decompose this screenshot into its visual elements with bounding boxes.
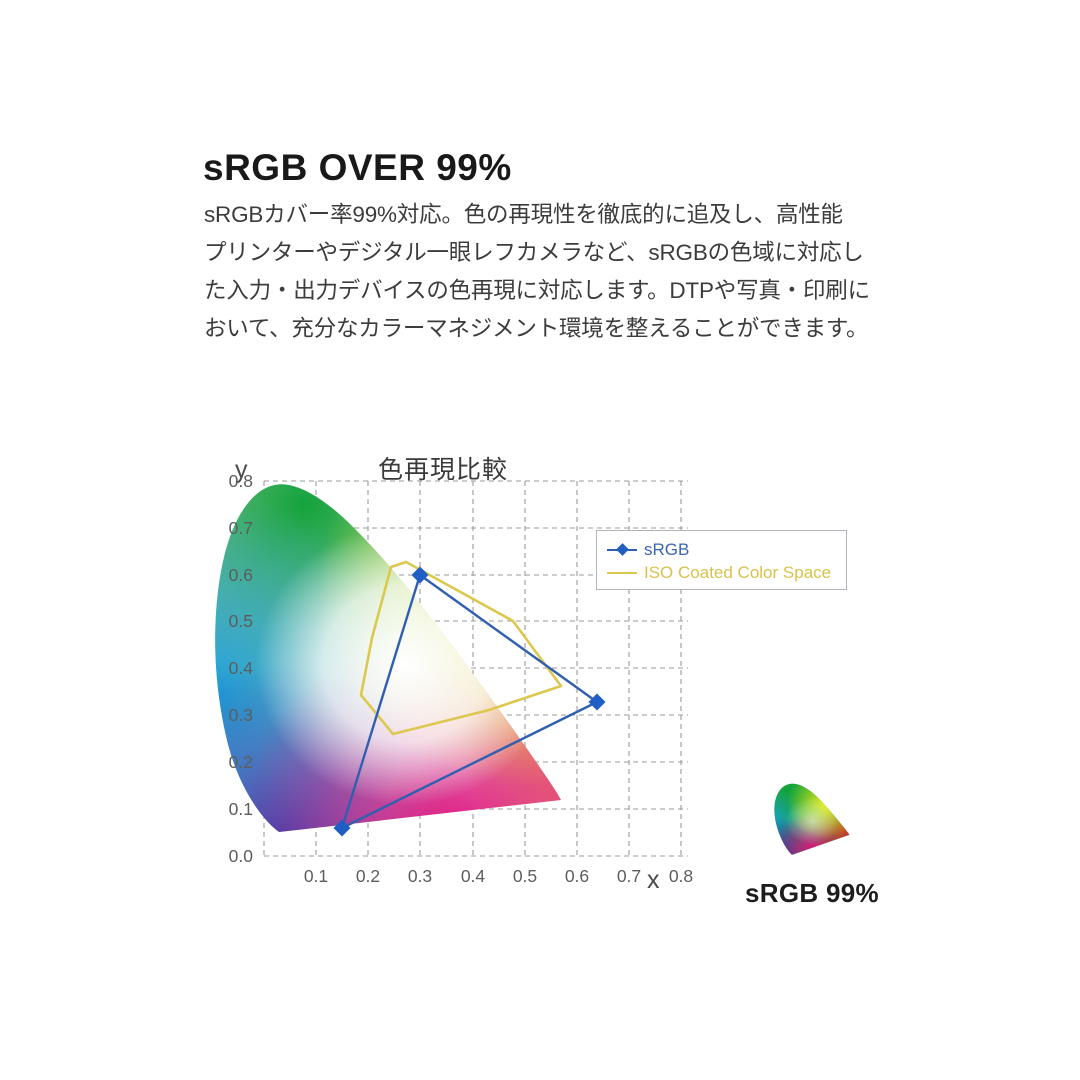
svg-text:0.3: 0.3 xyxy=(408,866,432,886)
legend-label: ISO Coated Color Space xyxy=(644,563,831,583)
svg-text:0.1: 0.1 xyxy=(304,866,328,886)
svg-text:0.7: 0.7 xyxy=(617,866,641,886)
svg-text:0.4: 0.4 xyxy=(461,866,486,886)
chart-legend: sRGB ISO Coated Color Space xyxy=(596,530,847,590)
body-line: た入力・出力デバイスの色再現に対応します。DTPや写真・印刷に xyxy=(204,272,894,310)
legend-item-srgb: sRGB xyxy=(607,538,846,561)
svg-text:0.1: 0.1 xyxy=(229,799,253,819)
plot-area: 0.0 0.1 0.2 0.3 0.4 0.5 0.6 0.7 0.8 0.1 … xyxy=(196,448,696,918)
page-title: sRGB OVER 99% xyxy=(203,147,512,189)
svg-text:0.4: 0.4 xyxy=(229,658,254,678)
legend-marker-line-icon xyxy=(607,566,637,580)
svg-text:0.6: 0.6 xyxy=(565,866,589,886)
svg-text:0.8: 0.8 xyxy=(229,471,253,491)
svg-text:0.3: 0.3 xyxy=(229,705,253,725)
x-tick-labels: 0.1 0.2 0.3 0.4 0.5 0.6 0.7 0.8 xyxy=(304,866,693,886)
cie-gamut-fill xyxy=(196,448,696,918)
srgb-coverage-badge: sRGB 99% xyxy=(737,778,887,909)
body-line: プリンターやデジタル一眼レフカメラなど、sRGBの色域に対応し xyxy=(204,234,894,272)
badge-label: sRGB 99% xyxy=(737,878,887,909)
y-tick-labels: 0.0 0.1 0.2 0.3 0.4 0.5 0.6 0.7 0.8 xyxy=(229,471,254,866)
body-line: おいて、充分なカラーマネジメント環境を整えることができます。 xyxy=(204,310,894,348)
chromaticity-chart: 色再現比較 y x xyxy=(196,448,696,918)
page-root: sRGB OVER 99% sRGBカバー率99%対応。色の再現性を徹底的に追及… xyxy=(0,0,1080,1080)
cie-gamut-icon xyxy=(764,778,860,864)
svg-text:0.7: 0.7 xyxy=(229,518,253,538)
body-line: sRGBカバー率99%対応。色の再現性を徹底的に追及し、高性能 xyxy=(204,196,894,234)
legend-label: sRGB xyxy=(644,540,689,560)
legend-marker-diamond-icon xyxy=(607,543,637,557)
svg-text:0.0: 0.0 xyxy=(229,846,254,866)
svg-text:0.6: 0.6 xyxy=(229,565,253,585)
body-paragraph: sRGBカバー率99%対応。色の再現性を徹底的に追及し、高性能 プリンターやデジ… xyxy=(204,196,894,348)
svg-text:0.2: 0.2 xyxy=(356,866,380,886)
svg-text:0.5: 0.5 xyxy=(229,611,253,631)
legend-item-iso-coated: ISO Coated Color Space xyxy=(607,561,846,584)
svg-text:0.2: 0.2 xyxy=(229,752,253,772)
svg-text:0.5: 0.5 xyxy=(513,866,537,886)
svg-text:0.8: 0.8 xyxy=(669,866,693,886)
